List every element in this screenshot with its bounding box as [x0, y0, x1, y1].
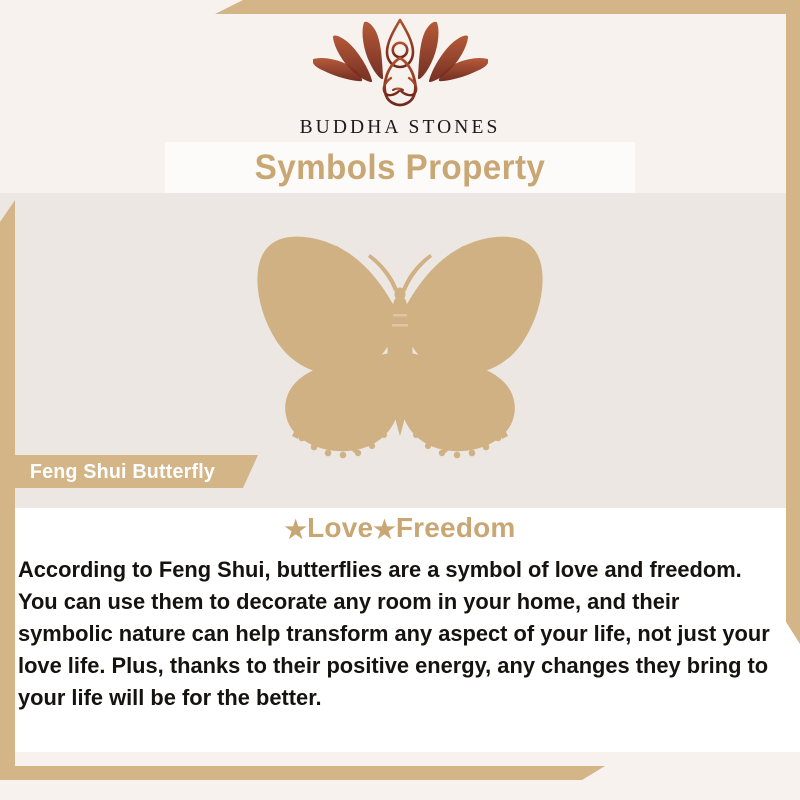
page-title: Symbols Property [255, 148, 546, 188]
illustration-container [0, 228, 800, 460]
butterfly-icon [224, 228, 576, 460]
lotus-meditation-figure-icon [313, 18, 488, 110]
decorative-bar-bottom [0, 766, 605, 780]
infographic-page: BUDDHA STONES Symbols Property [0, 0, 800, 800]
page-title-container: Symbols Property [165, 142, 635, 193]
brand-logo: BUDDHA STONES [0, 18, 800, 139]
brand-name: BUDDHA STONES [300, 117, 501, 139]
headline-word-freedom: Freedom [396, 512, 516, 543]
feng-shui-banner: Feng Shui Butterfly [0, 455, 258, 488]
star-icon-left: ★ [284, 515, 307, 545]
headline-word-love: Love [307, 512, 373, 543]
banner-label: Feng Shui Butterfly [30, 460, 215, 484]
section-headline: ★Love★Freedom [0, 512, 800, 545]
decorative-bar-top [215, 0, 800, 14]
star-icon-middle: ★ [373, 515, 396, 545]
body-paragraph: According to Feng Shui, butterflies are … [18, 554, 774, 714]
